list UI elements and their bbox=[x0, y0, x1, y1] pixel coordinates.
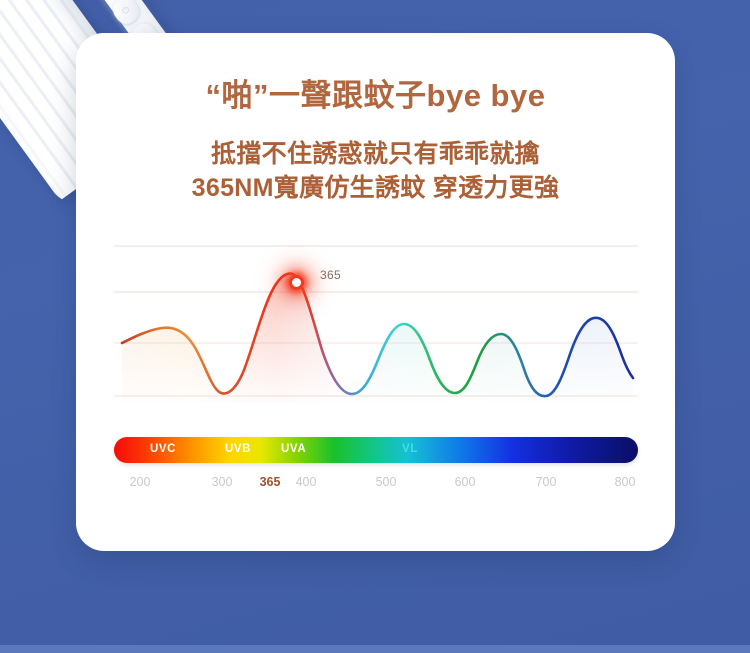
subtitle-block: 抵擋不住誘惑就只有乖乖就擒 365NM寬廣仿生誘蚊 穿透力更強 bbox=[76, 137, 675, 205]
page-title: “啪”一聲跟蚊子bye bye bbox=[76, 70, 675, 115]
axis-tick-600: 600 bbox=[455, 475, 476, 489]
spectrum-band-uva: UVA bbox=[281, 443, 306, 455]
bottom-accent-strip bbox=[0, 645, 750, 653]
spectrum-chart: 365 bbox=[114, 238, 638, 410]
spectrum-bar: UVC UVB UVA VL bbox=[114, 437, 638, 463]
peak-annotation-label: 365 bbox=[320, 268, 341, 282]
promo-page: ⏻ ☼ ◷ “啪”一聲跟蚊子bye bye 抵擋不住誘惑就只有乖乖就擒 365N… bbox=[0, 0, 750, 653]
axis-tick-400: 400 bbox=[296, 475, 317, 489]
info-card: “啪”一聲跟蚊子bye bye 抵擋不住誘惑就只有乖乖就擒 365NM寬廣仿生誘… bbox=[76, 33, 675, 551]
axis-tick-365-highlighted: 365 bbox=[260, 475, 281, 489]
spectrum-band-uvc: UVC bbox=[150, 443, 176, 455]
axis-tick-800: 800 bbox=[615, 475, 636, 489]
subtitle-line-1: 抵擋不住誘惑就只有乖乖就擒 bbox=[76, 137, 675, 171]
spectrum-chart-svg bbox=[114, 238, 638, 410]
peak-marker-dot bbox=[289, 275, 304, 290]
axis-tick-200: 200 bbox=[130, 475, 151, 489]
axis-tick-500: 500 bbox=[376, 475, 397, 489]
axis-tick-300: 300 bbox=[212, 475, 233, 489]
spectrum-band-uvb: UVB bbox=[225, 443, 251, 455]
chart-area-fill bbox=[122, 274, 633, 403]
spectrum-band-vl: VL bbox=[402, 443, 418, 455]
subtitle-line-2: 365NM寬廣仿生誘蚊 穿透力更強 bbox=[76, 171, 675, 205]
axis-tick-700: 700 bbox=[536, 475, 557, 489]
wavelength-axis: 200 300 365 400 500 600 700 800 bbox=[114, 475, 638, 495]
